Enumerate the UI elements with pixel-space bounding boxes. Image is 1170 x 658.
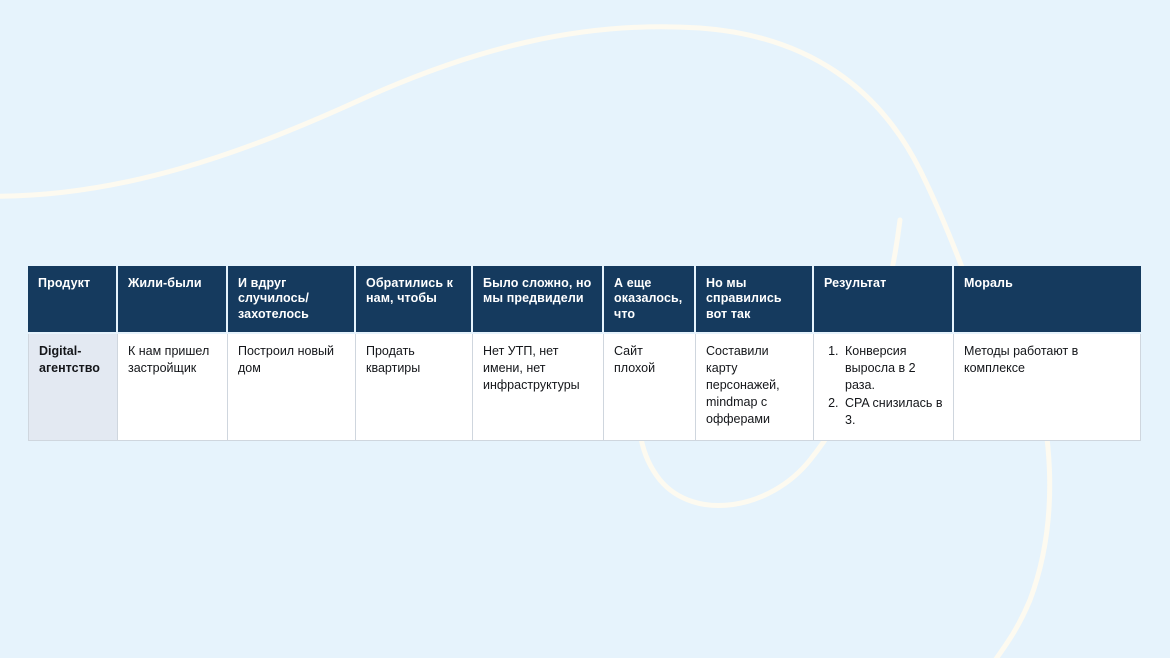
cell-product: Digital-агентство [28,334,118,441]
column-header-reason-contacted: Обратились к нам, чтобы [356,266,473,334]
cell-reason-contacted: Продать квартиры [356,334,473,441]
column-header-product: Продукт [28,266,118,334]
cell-difficulties: Нет УТП, нет имени, нет инфраструктуры [473,334,604,441]
table-header: Продукт Жили-были И вдруг случилось/ зах… [28,266,1141,334]
table-header-row: Продукт Жили-были И вдруг случилось/ зах… [28,266,1141,334]
column-header-difficulties: Было сложно, но мы предвидели [473,266,604,334]
cell-what-happened: Построил новый дом [228,334,356,441]
story-table-container: Продукт Жили-были И вдруг случилось/ зах… [28,266,1141,441]
column-header-result: Результат [814,266,954,334]
result-list-item: CPA снизилась в 3. [842,395,943,429]
column-header-once-upon-a-time: Жили-были [118,266,228,334]
cell-moral: Методы работают в комплексе [954,334,1141,441]
cell-also-turned-out: Сайт плохой [604,334,696,441]
column-header-how-we-managed: Но мы справились вот так [696,266,814,334]
cell-once-upon-a-time: К нам пришел застройщик [118,334,228,441]
column-header-what-happened: И вдруг случилось/ захотелось [228,266,356,334]
result-list: Конверсия выросла в 2 раза.CPA снизилась… [824,343,943,429]
cell-result: Конверсия выросла в 2 раза.CPA снизилась… [814,334,954,441]
table-body: Digital-агентство К нам пришел застройщи… [28,334,1141,441]
table-row: Digital-агентство К нам пришел застройщи… [28,334,1141,441]
result-list-item: Конверсия выросла в 2 раза. [842,343,943,394]
column-header-also-turned-out: А еще оказалось, что [604,266,696,334]
cell-how-we-managed: Составили карту персонажей, mindmap с оф… [696,334,814,441]
storytelling-table: Продукт Жили-были И вдруг случилось/ зах… [28,266,1141,441]
column-header-moral: Мораль [954,266,1141,334]
